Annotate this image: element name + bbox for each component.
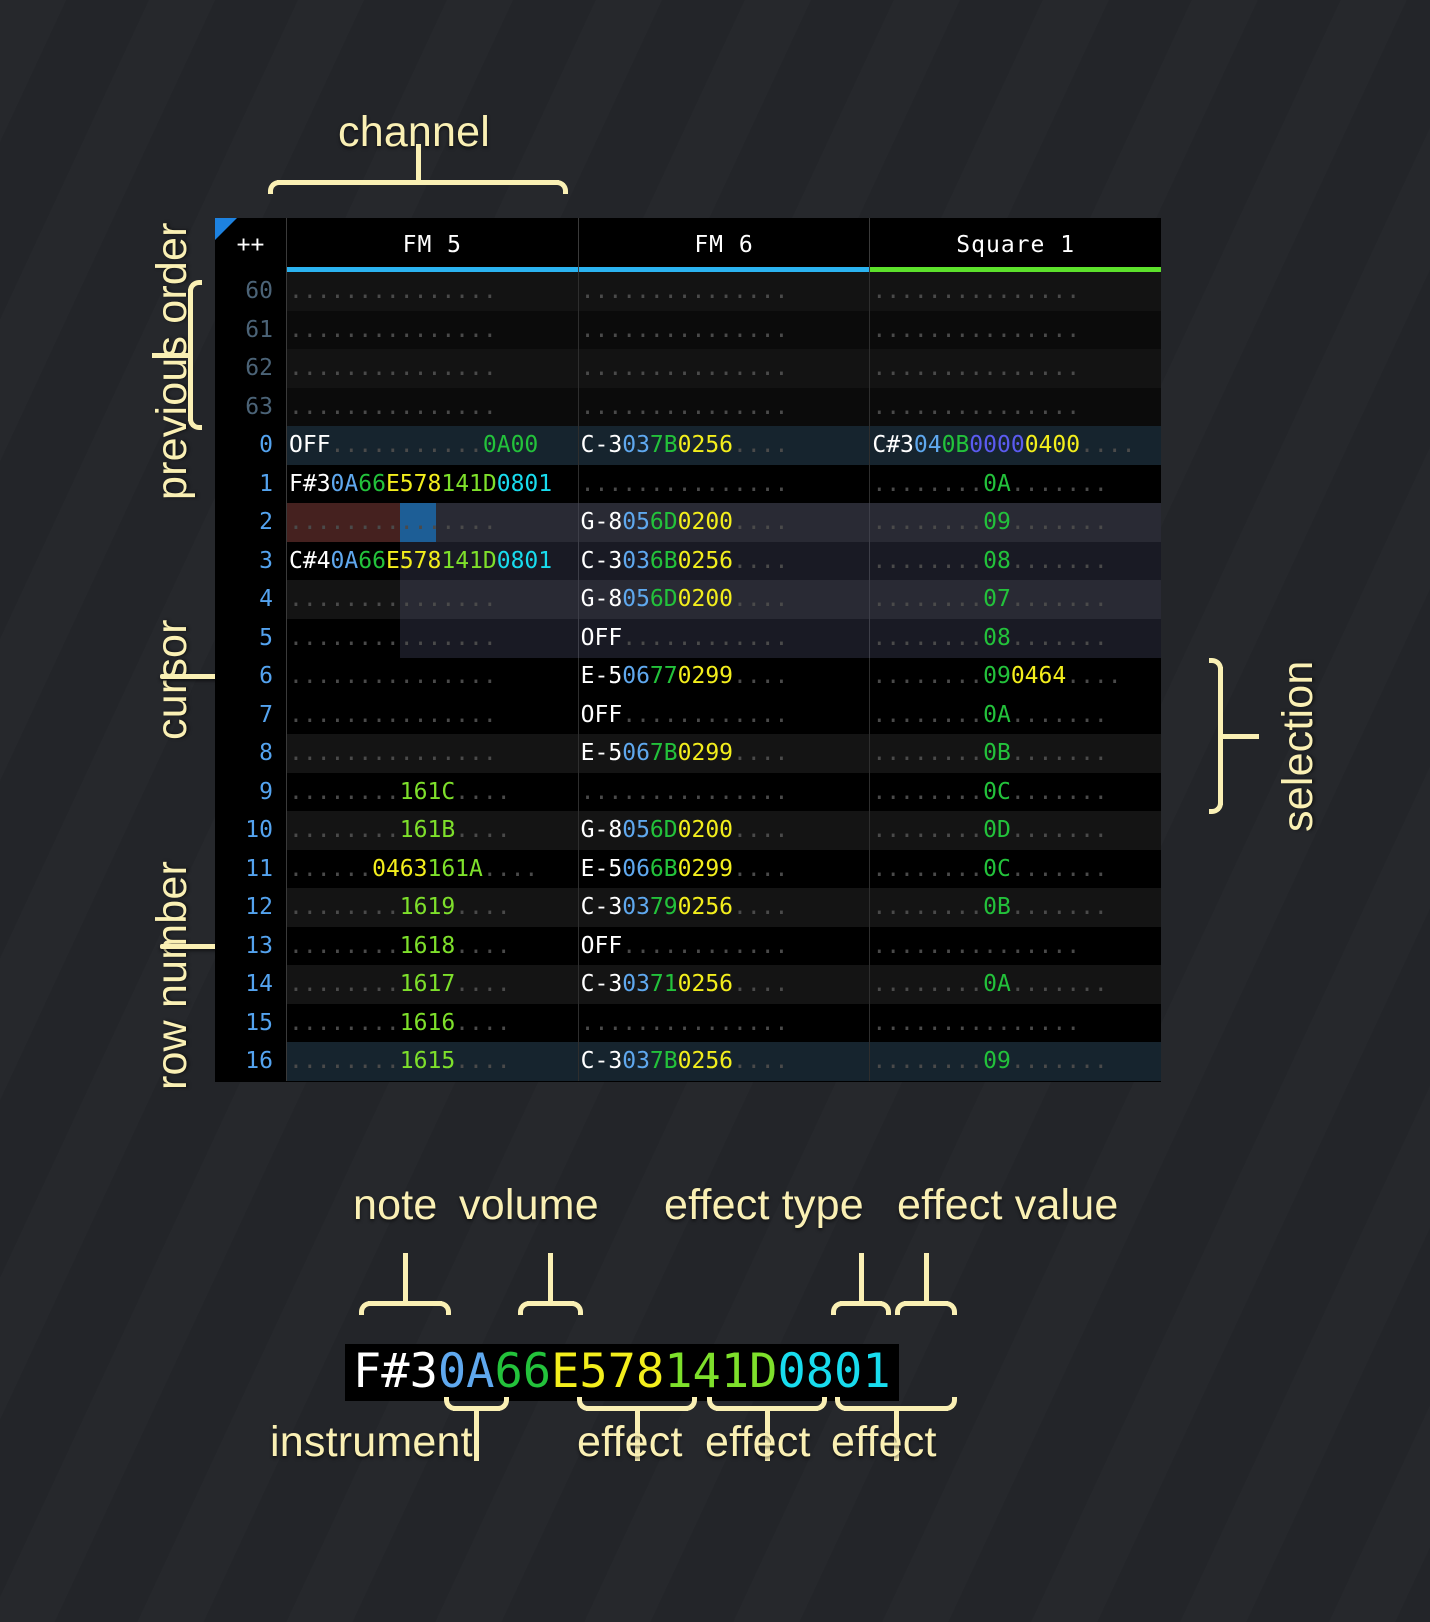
pattern-token: 0000 [969,432,1024,458]
pattern-cell[interactable]: ........1619.... [287,888,579,927]
pattern-cell[interactable]: ............... [287,619,579,658]
table-row[interactable]: 63......................................… [215,388,1161,427]
pattern-cell[interactable]: ........1615.... [287,1042,579,1081]
pattern-cell[interactable]: ............... [287,657,579,696]
pattern-token: OFF [289,432,331,458]
pattern-cell[interactable]: ............... [870,311,1161,350]
table-row[interactable]: 13........1618....OFF...................… [215,927,1161,966]
pattern-token: ............ [622,933,788,959]
pattern-token: ............... [581,779,789,805]
pattern-token: .... [733,740,788,766]
row-number: 10 [215,811,287,850]
pattern-token: 05 [622,509,650,535]
pattern-cell[interactable]: OFF............ [579,927,871,966]
pattern-token: 0B [942,432,970,458]
pattern-token: F#3 [289,471,331,497]
pattern-cell[interactable]: ........161B.... [287,811,579,850]
pattern-token: .... [455,933,510,959]
pattern-token: ....... [1011,702,1108,728]
pattern-token: .... [1066,663,1121,689]
pattern-cell[interactable]: ........08....... [870,542,1161,581]
pattern-token: 03 [622,894,650,920]
pattern-token: G-8 [581,586,623,612]
channel-header-square1[interactable]: Square 1 [870,218,1161,272]
pattern-token: 0464 [1011,663,1066,689]
pattern-token: 07 [983,586,1011,612]
pattern-cell[interactable]: ............... [287,503,579,542]
pattern-token: ............ [622,625,788,651]
pattern-cell[interactable]: ........0C....... [870,850,1161,889]
pattern-token: 77 [650,663,678,689]
pattern-token: OFF [581,702,623,728]
pattern-token: 0A00 [483,432,538,458]
pattern-token: 06 [622,740,650,766]
row-number: 63 [215,388,287,427]
pattern-cell[interactable]: ............... [870,388,1161,427]
pattern-cell[interactable]: G-8056D0200.... [579,811,871,850]
pattern-token: C#4 [289,548,331,574]
row-number: 5 [215,619,287,658]
pattern-cell[interactable]: ........0A....... [870,465,1161,504]
pattern-token: 03 [622,1048,650,1074]
pattern-token: 03 [622,432,650,458]
row-number: 8 [215,734,287,773]
annotation-effect-value-label: effect value [897,1181,1119,1230]
pattern-token: ........ [872,971,983,997]
pattern-token: ........ [289,894,400,920]
row-number: 0 [215,426,287,465]
row-number: 2 [215,503,287,542]
pattern-token: ............... [581,394,789,420]
pattern-token: ........ [872,548,983,574]
pattern-token: 0299 [678,740,733,766]
pattern-cell[interactable]: ........09....... [870,1042,1161,1081]
pattern-token: .... [483,856,538,882]
pattern-token: ....... [1011,817,1108,843]
pattern-token: ............... [289,740,497,766]
pattern-token: E-5 [581,856,623,882]
pattern-token: 6B [650,856,678,882]
pattern-cell[interactable]: ........07....... [870,580,1161,619]
pattern-token: ............... [872,278,1080,304]
pattern-token: C-3 [581,548,623,574]
pattern-token: E578 [386,548,441,574]
pattern-cell[interactable]: ............... [287,734,579,773]
effect1-brace [577,1391,697,1411]
pattern-token: .... [1080,432,1135,458]
row-number: 14 [215,965,287,1004]
pattern-token: 1619 [400,894,455,920]
pattern-token: ........ [872,509,983,535]
pattern-cell[interactable]: ........0A....... [870,965,1161,1004]
pattern-token: F#3 [353,1344,438,1399]
pattern-token: 06 [622,856,650,882]
annotation-note-label: note [353,1181,438,1230]
pattern-token: ............... [289,278,497,304]
pattern-token: C#3 [872,432,914,458]
pattern-token: ........ [289,971,400,997]
pattern-cell[interactable]: ........08....... [870,619,1161,658]
pattern-token: ............... [289,702,497,728]
pattern-token: G-8 [581,509,623,535]
pattern-cell[interactable]: C-303790256.... [579,888,871,927]
row-number: 60 [215,272,287,311]
pattern-token: .... [733,432,788,458]
pattern-token: .... [455,1010,510,1036]
pattern-token: 0C [983,856,1011,882]
table-row[interactable]: 14........1617....C-303710256...........… [215,965,1161,1004]
row-number: 62 [215,349,287,388]
pattern-cell[interactable]: ............... [870,1004,1161,1043]
pattern-token: ...... [289,856,372,882]
pattern-token: 6D [650,586,678,612]
pattern-tracker[interactable]: ++ FM 5 FM 6 Square 1 60................… [215,218,1161,1082]
rownum-header-label: ++ [237,232,265,258]
pattern-cell[interactable]: ............... [287,311,579,350]
pattern-token: 6D [650,817,678,843]
pattern-token: ............... [581,471,789,497]
pattern-cell[interactable]: G-8056D0200.... [579,580,871,619]
pattern-token: ........ [872,663,983,689]
pattern-token: ........ [872,740,983,766]
table-row[interactable]: 1F#30A66E578141D0801....................… [215,465,1161,504]
channel-header-fm6[interactable]: FM 6 [579,218,871,272]
pattern-token: ............... [872,933,1080,959]
pattern-cell[interactable]: E-5067B0299.... [579,734,871,773]
pattern-token: 03 [622,548,650,574]
pattern-token: ............ [622,702,788,728]
pattern-cell[interactable]: C#3040B00000400.... [870,426,1161,465]
pattern-token: 0200 [678,509,733,535]
pattern-token: ....... [1011,779,1108,805]
pattern-token: 7B [650,432,678,458]
pattern-token: .... [455,894,510,920]
pattern-token: 0256 [678,1048,733,1074]
pattern-cell[interactable]: ........0B....... [870,734,1161,773]
pattern-token: 05 [622,586,650,612]
pattern-token: 0256 [678,971,733,997]
pattern-cell[interactable]: OFF...........0A00 [287,426,579,465]
pattern-cell[interactable]: ............... [579,311,871,350]
pattern-token: 03 [622,971,650,997]
pattern-token: ............... [872,317,1080,343]
pattern-cell[interactable]: ............... [579,349,871,388]
pattern-cell[interactable]: C#40A66E578141D0801 [287,542,579,581]
channel-header-fm5[interactable]: FM 5 [287,218,579,272]
pattern-token: ....... [1011,586,1108,612]
row-number: 7 [215,696,287,735]
instrument-brace [444,1391,509,1411]
pattern-token: 0299 [678,856,733,882]
pattern-token: 161C [400,779,455,805]
pattern-token: .... [455,779,510,805]
pattern-token: 0A [983,702,1011,728]
pattern-token: .... [455,971,510,997]
pattern-token: ............... [289,625,497,651]
annotation-effect1-label: effect [577,1418,683,1467]
pattern-token: C-3 [581,1048,623,1074]
pattern-token: 0A [331,471,359,497]
channel-name-label: FM 6 [694,232,753,258]
table-row[interactable]: 11......0463161A....E-5066B0299.........… [215,850,1161,889]
pattern-token: .... [733,817,788,843]
pattern-cell[interactable]: ............... [287,388,579,427]
pattern-cell[interactable]: ............... [870,349,1161,388]
pattern-token: 05 [622,817,650,843]
pattern-cell[interactable]: ........1616.... [287,1004,579,1043]
selection-brace [1183,658,1223,814]
pattern-token: 06 [622,663,650,689]
pattern-cell[interactable]: ............... [579,465,871,504]
pattern-token: ........ [872,1048,983,1074]
pattern-token: OFF [581,625,623,651]
pattern-cell[interactable]: ............... [579,272,871,311]
pattern-cell[interactable]: ........1617.... [287,965,579,1004]
pattern-cell[interactable]: E-5066B0299.... [579,850,871,889]
pattern-token: 09 [983,1048,1011,1074]
pattern-token: .... [733,1048,788,1074]
pattern-token: 66 [358,471,386,497]
pattern-token: ....... [1011,471,1108,497]
pattern-token: C-3 [581,432,623,458]
pattern-token: .... [733,663,788,689]
pattern-token: ............... [289,509,497,535]
pattern-token: E-5 [581,663,623,689]
pattern-token: C-3 [581,894,623,920]
table-row[interactable]: 12........1619....C-303790256...........… [215,888,1161,927]
pattern-token: ............... [872,1010,1080,1036]
pattern-token: C-3 [581,971,623,997]
pattern-cell[interactable]: OFF............ [579,619,871,658]
pattern-token: ............... [289,355,497,381]
table-row[interactable]: 8...............E-5067B0299............0… [215,734,1161,773]
annotation-selection-label: selection [1274,660,1323,832]
pattern-token: 0C [983,779,1011,805]
annotation-volume-label: volume [459,1181,599,1230]
note-brace [359,1301,451,1321]
table-row[interactable]: 2...............G-8056D0200............0… [215,503,1161,542]
pattern-token: ............... [872,355,1080,381]
table-row[interactable]: 15........1616..........................… [215,1004,1161,1043]
effect-type-brace [831,1301,891,1321]
pattern-token: 0A [983,471,1011,497]
pattern-token: ........ [289,817,400,843]
pattern-token: 66 [358,548,386,574]
pattern-token: ............... [581,278,789,304]
pattern-token: ........ [872,817,983,843]
row-number: 13 [215,927,287,966]
table-row[interactable]: 3C#40A66E578141D0801C-3036B0256.........… [215,542,1161,581]
row-number: 4 [215,580,287,619]
pattern-cell[interactable]: C-303710256.... [579,965,871,1004]
pattern-token: ........ [872,586,983,612]
pattern-token: .... [733,856,788,882]
pattern-token: 7B [650,1048,678,1074]
pattern-token: 0256 [678,548,733,574]
pattern-token: ....... [1011,509,1108,535]
pattern-token: 0256 [678,432,733,458]
tracker-rows[interactable]: 60......................................… [215,272,1161,1081]
pattern-token: 0B [983,894,1011,920]
table-row[interactable]: 62......................................… [215,349,1161,388]
pattern-cell[interactable]: ............... [287,580,579,619]
tracker-header: ++ FM 5 FM 6 Square 1 [215,218,1161,272]
pattern-token: .... [455,817,510,843]
pattern-token: 161B [400,817,455,843]
pattern-cell[interactable]: ............... [579,388,871,427]
table-row[interactable]: 61......................................… [215,311,1161,350]
pattern-token: ........ [872,894,983,920]
annotation-effect-type-label: effect type [664,1181,864,1230]
pattern-token: 09 [983,663,1011,689]
pattern-token: 0A [983,971,1011,997]
pattern-cell[interactable]: F#30A66E578141D0801 [287,465,579,504]
pattern-token: 04 [914,432,942,458]
pattern-token: .... [733,548,788,574]
pattern-token: 1617 [400,971,455,997]
annotation-effect2-label: effect [705,1418,811,1467]
pattern-token: ........ [289,1048,400,1074]
pattern-token: 0200 [678,586,733,612]
row-number: 61 [215,311,287,350]
pattern-token: ........ [872,856,983,882]
row-number: 6 [215,657,287,696]
pattern-token: ........ [872,779,983,805]
pattern-cell[interactable]: G-8056D0200.... [579,503,871,542]
effect3-brace [835,1391,957,1411]
table-row[interactable]: 60......................................… [215,272,1161,311]
pattern-cell[interactable]: C-3037B0256.... [579,1042,871,1081]
pattern-cell[interactable]: ........0C....... [870,773,1161,812]
pattern-token: E-5 [581,740,623,766]
pattern-cell[interactable]: OFF............ [579,696,871,735]
rownum-header-cell[interactable]: ++ [215,218,287,272]
row-number: 11 [215,850,287,889]
table-row[interactable]: 16........1615....C-3037B0256...........… [215,1042,1161,1081]
pattern-token: 0B [983,740,1011,766]
pattern-cell[interactable]: C-3037B0256.... [579,426,871,465]
pattern-token: ....... [1011,1048,1108,1074]
pattern-token: 0D [983,817,1011,843]
pattern-token: ........... [331,432,483,458]
pattern-token: ........ [289,1010,400,1036]
pattern-token: OFF [581,933,623,959]
pattern-token: 71 [650,971,678,997]
pattern-token: 141D [441,471,496,497]
pattern-token: ....... [1011,548,1108,574]
row-number: 12 [215,888,287,927]
annotation-row-number-label: row number [148,861,197,1090]
pattern-token: ............... [581,317,789,343]
pattern-token: 08 [983,548,1011,574]
pattern-token: ....... [1011,625,1108,651]
pattern-token: 0200 [678,817,733,843]
pattern-token: 6B [650,548,678,574]
effect-value-brace [895,1301,957,1321]
pattern-token: ....... [1011,971,1108,997]
pattern-token: ............... [289,317,497,343]
pattern-token: ........ [872,702,983,728]
annotation-cursor-label: cursor [148,619,197,740]
pattern-token: ....... [1011,856,1108,882]
table-row[interactable]: 0OFF...........0A00C-3037B0256....C#3040… [215,426,1161,465]
annotation-channel-label: channel [338,108,490,157]
pattern-token: ............... [289,663,497,689]
pattern-token: ............... [581,355,789,381]
pattern-token: .... [733,509,788,535]
pattern-token: 08 [983,625,1011,651]
corner-triangle-icon [215,218,237,240]
pattern-cell[interactable]: ........0B....... [870,888,1161,927]
pattern-token: G-8 [581,817,623,843]
pattern-token: E578 [386,471,441,497]
volume-brace [518,1301,583,1321]
row-number: 3 [215,542,287,581]
pattern-token: ........ [289,779,400,805]
pattern-cell[interactable]: ............... [579,1004,871,1043]
table-row[interactable]: 9........161C...........................… [215,773,1161,812]
pattern-token: .... [733,971,788,997]
pattern-cell[interactable]: ........0A....... [870,696,1161,735]
pattern-token: .... [733,586,788,612]
pattern-cell[interactable]: ......0463161A.... [287,850,579,889]
channel-name-label: FM 5 [403,232,462,258]
table-row[interactable]: 6...............E-506770299............0… [215,657,1161,696]
pattern-token: 141D [441,548,496,574]
table-row[interactable]: 5...............OFF....................0… [215,619,1161,658]
pattern-cell[interactable]: ............... [870,272,1161,311]
pattern-token: 7B [650,740,678,766]
pattern-token: ............... [289,586,497,612]
table-row[interactable]: 10........161B....G-8056D0200...........… [215,811,1161,850]
pattern-token: ............... [289,394,497,420]
pattern-token: 0299 [678,663,733,689]
pattern-token: ............... [581,1010,789,1036]
table-row[interactable]: 7...............OFF....................0… [215,696,1161,735]
pattern-cell[interactable]: ............... [287,349,579,388]
pattern-cell[interactable]: ............... [870,927,1161,966]
pattern-cell[interactable]: E-506770299.... [579,657,871,696]
pattern-cell[interactable]: C-3036B0256.... [579,542,871,581]
pattern-token: 79 [650,894,678,920]
row-number: 1 [215,465,287,504]
pattern-token: ........ [872,471,983,497]
pattern-cell[interactable]: ........1618.... [287,927,579,966]
table-row[interactable]: 4...............G-8056D0200............0… [215,580,1161,619]
pattern-cell[interactable]: ............... [287,272,579,311]
pattern-cell[interactable]: ........0D....... [870,811,1161,850]
pattern-token: ....... [1011,740,1108,766]
row-number: 15 [215,1004,287,1043]
pattern-cell[interactable]: ........09....... [870,503,1161,542]
pattern-token: 1615 [400,1048,455,1074]
pattern-cell[interactable]: ........090464.... [870,657,1161,696]
pattern-cell[interactable]: ........161C.... [287,773,579,812]
pattern-token: 0400 [1025,432,1080,458]
pattern-token: 161A [427,856,482,882]
pattern-token: .... [455,1048,510,1074]
pattern-token: ............... [872,394,1080,420]
pattern-token: 0801 [497,548,552,574]
annotation-effect3-label: effect [831,1418,937,1467]
pattern-token: 0256 [678,894,733,920]
pattern-token: 0801 [497,471,552,497]
pattern-token: 1618 [400,933,455,959]
pattern-token: ....... [1011,894,1108,920]
pattern-token: .... [733,894,788,920]
pattern-cell[interactable]: ............... [287,696,579,735]
pattern-cell[interactable]: ............... [579,773,871,812]
